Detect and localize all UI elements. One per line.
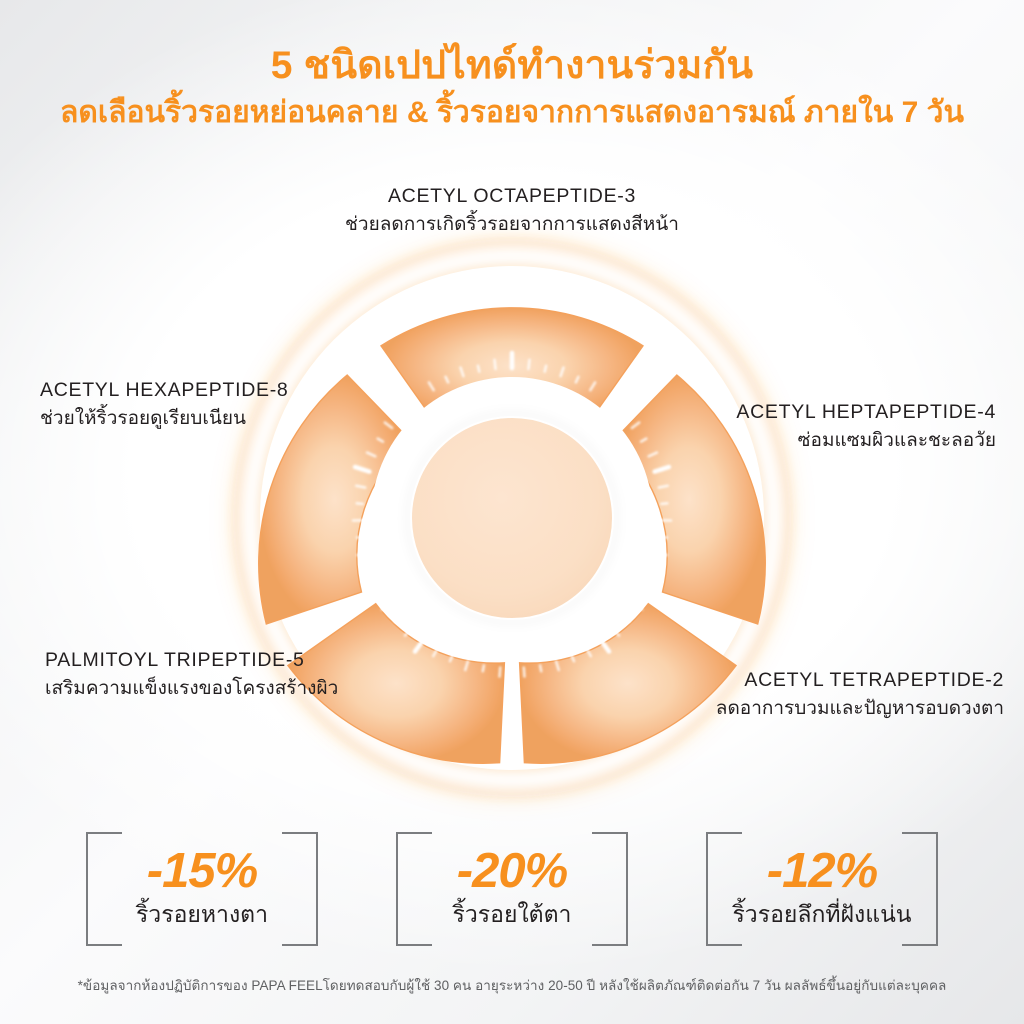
stat-percent: -15% <box>147 847 257 896</box>
label-palmitoyl-tripeptide-5: PALMITOYL TRIPEPTIDE-5 เสริมความแข็งแรงข… <box>45 648 338 702</box>
stat-card: -15% ริ้วรอยหางตา <box>86 832 318 942</box>
stat-percent: -12% <box>767 847 877 896</box>
peptide-desc: ลดอาการบวมและปัญหารอบดวงตา <box>716 696 1004 722</box>
label-acetyl-hexapeptide-8: ACETYL HEXAPEPTIDE-8 ช่วยให้ริ้วรอยดูเรี… <box>40 378 288 432</box>
stat-percent: -20% <box>457 847 567 896</box>
page-subtitle: ลดเลือนริ้วรอยหย่อนคลาย & ริ้วรอยจากการแ… <box>0 93 1024 133</box>
header: 5 ชนิดเปปไทด์ทำงานร่วมกัน ลดเลือนริ้วรอย… <box>0 40 1024 133</box>
stat-caption: ริ้วรอยใต้ตา <box>453 902 572 927</box>
peptide-name: ACETYL TETRAPEPTIDE-2 <box>716 668 1004 693</box>
peptide-name: ACETYL HEXAPEPTIDE-8 <box>40 378 288 403</box>
tick-mark <box>357 503 363 504</box>
peptide-name: ACETYL HEPTAPEPTIDE-4 <box>736 400 996 425</box>
peptide-donut-diagram <box>162 208 862 828</box>
peptide-desc: เสริมความแข็งแรงของโครงสร้างผิว <box>45 676 338 702</box>
stat-card: -12% ริ้วรอยลึกที่ฝังแน่น <box>706 832 938 942</box>
results-stats: -15% ริ้วรอยหางตา -20% ริ้วรอยใต้ตา -12%… <box>0 832 1024 942</box>
tick-mark <box>356 486 365 488</box>
peptide-desc: ช่วยลดการเกิดริ้วรอยจากการแสดงสีหน้า <box>0 212 1024 238</box>
stat-caption: ริ้วรอยลึกที่ฝังแน่น <box>732 902 911 927</box>
tick-mark <box>540 665 541 671</box>
tick-mark <box>528 360 529 369</box>
tick-mark <box>545 366 546 372</box>
tick-mark <box>661 503 667 504</box>
tick-mark <box>661 537 667 538</box>
tick-mark <box>659 486 668 488</box>
donut-chart-svg <box>162 208 862 828</box>
peptide-name: PALMITOYL TRIPEPTIDE-5 <box>45 648 338 673</box>
label-acetyl-heptapeptide-4: ACETYL HEPTAPEPTIDE-4 ซ่อมแซมผิวและชะลอว… <box>736 400 996 454</box>
stat-caption: ริ้วรอยหางตา <box>136 902 268 927</box>
tick-mark <box>495 360 496 369</box>
peptide-desc: ซ่อมแซมผิวและชะลอวัย <box>736 428 996 454</box>
tick-mark <box>483 665 484 671</box>
label-acetyl-tetrapeptide-2: ACETYL TETRAPEPTIDE-2 ลดอาการบวมและปัญหา… <box>716 668 1004 722</box>
tick-mark <box>500 668 501 677</box>
peptide-name: ACETYL OCTAPEPTIDE-3 <box>0 184 1024 209</box>
footnote: *ข้อมูลจากห้องปฏิบัติการของ PAPA FEELโดย… <box>0 974 1024 996</box>
stat-card: -20% ริ้วรอยใต้ตา <box>396 832 628 942</box>
label-acetyl-octapeptide-3: ACETYL OCTAPEPTIDE-3 ช่วยลดการเกิดริ้วรอ… <box>0 184 1024 238</box>
tick-mark <box>524 668 525 677</box>
center-disc <box>411 417 613 619</box>
peptide-desc: ช่วยให้ริ้วรอยดูเรียบเนียน <box>40 406 288 432</box>
page-title: 5 ชนิดเปปไทด์ทำงานร่วมกัน <box>0 40 1024 91</box>
tick-mark <box>357 537 363 538</box>
tick-mark <box>478 366 479 372</box>
